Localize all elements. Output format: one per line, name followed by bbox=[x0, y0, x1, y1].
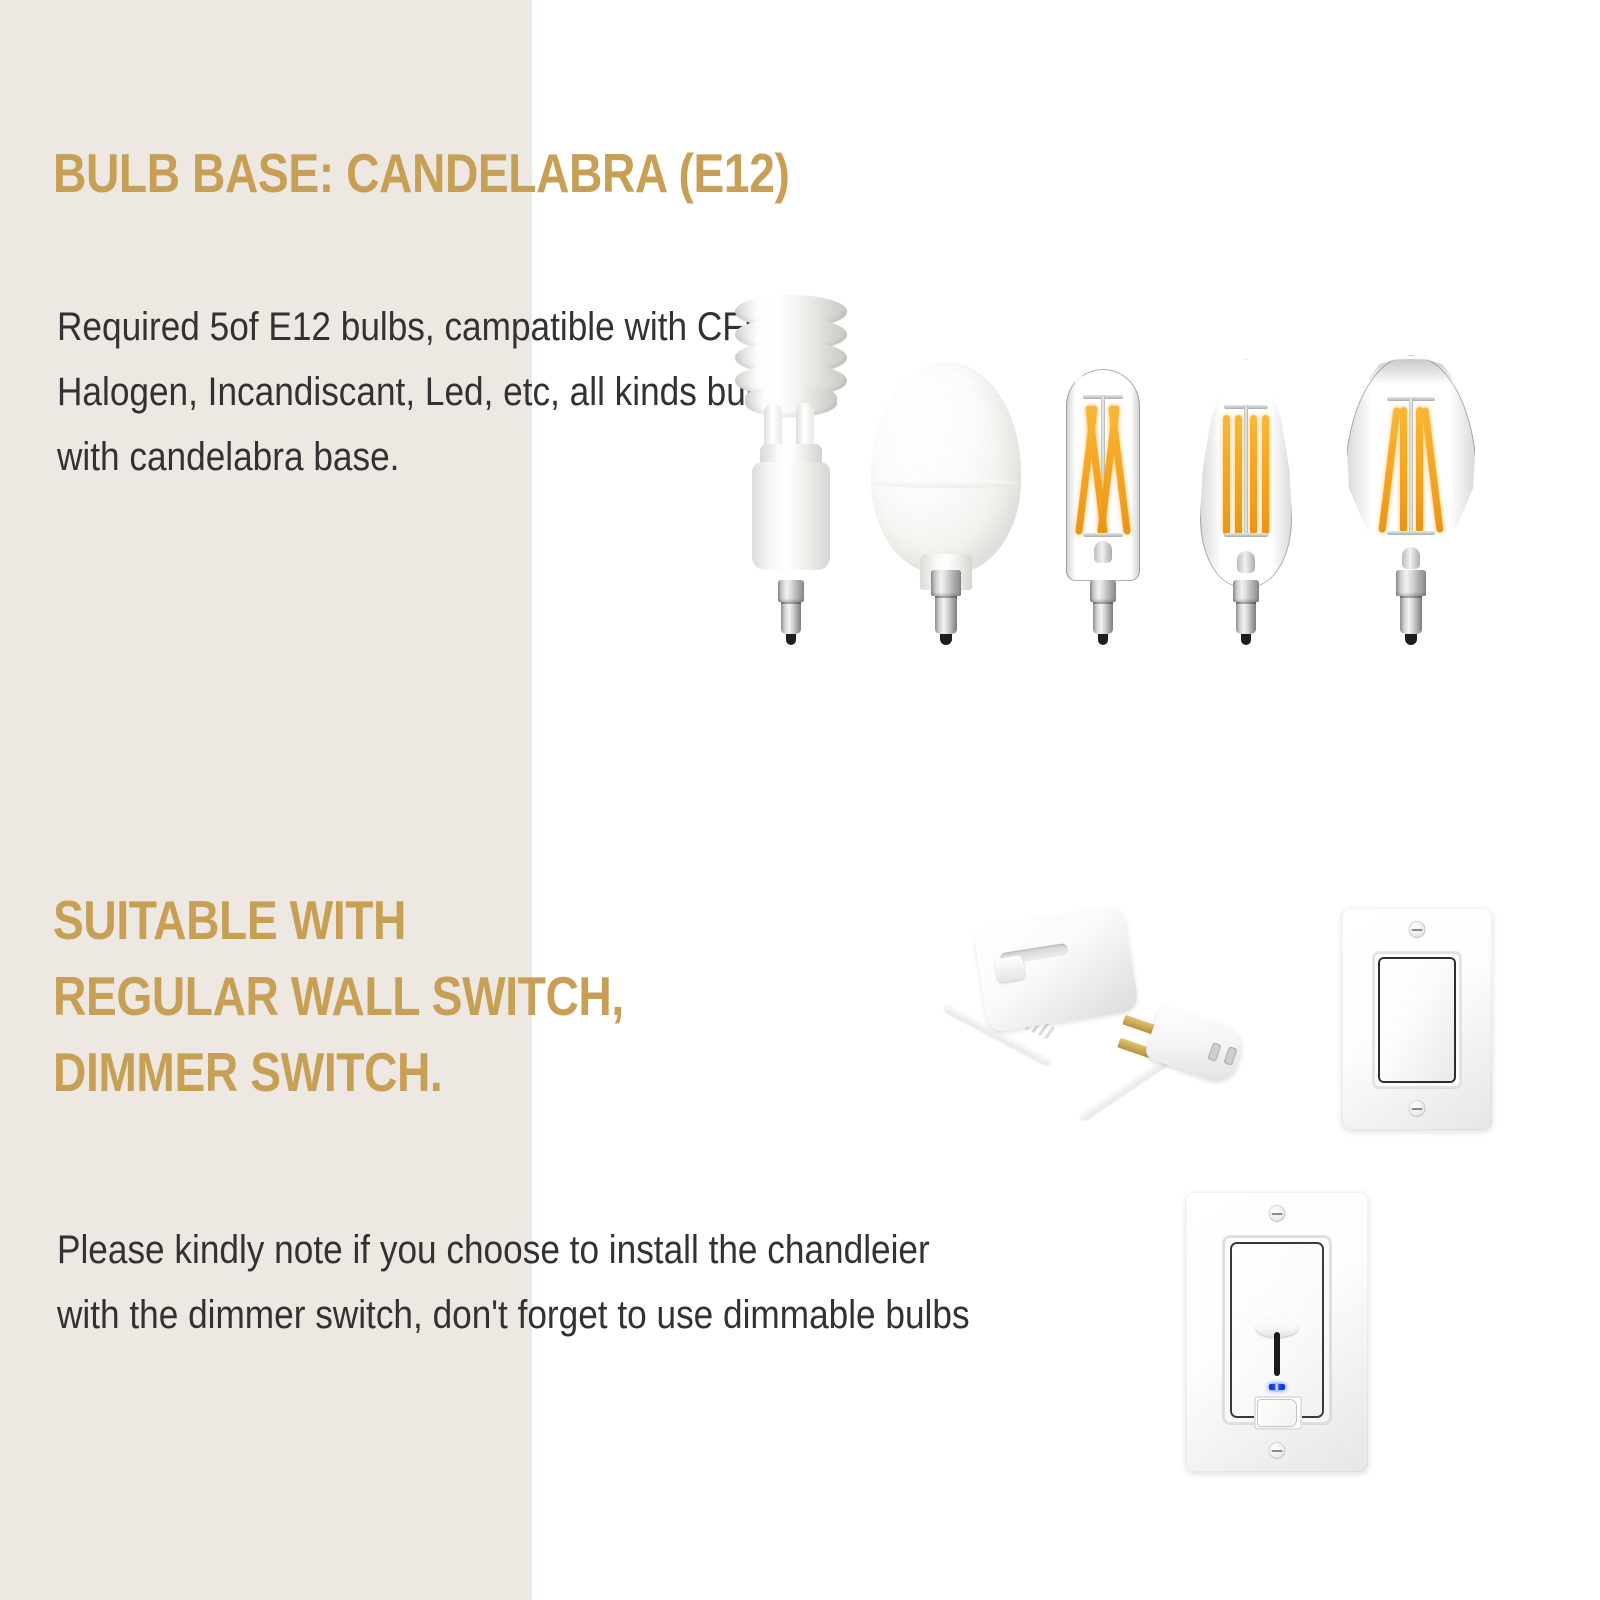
e12-screw-base bbox=[931, 570, 961, 645]
slide-dimmer-switch bbox=[1186, 1192, 1368, 1472]
filament-stem-mount bbox=[1402, 547, 1420, 569]
faceplate-screw-top bbox=[1409, 921, 1426, 938]
dimmer-body bbox=[1232, 1244, 1322, 1416]
filament-stem-mount bbox=[1237, 551, 1255, 573]
heading-line-3: DIMMER SWITCH. bbox=[53, 1045, 624, 1100]
filament-stem-mount bbox=[1094, 541, 1112, 563]
cfl-spiral-coil bbox=[735, 295, 847, 417]
globe-diffuser bbox=[871, 362, 1021, 574]
cord-dimmer-slider-knob bbox=[994, 955, 1025, 983]
cfl-tube-right bbox=[796, 403, 814, 449]
filament-assembly bbox=[1220, 407, 1272, 535]
tubular-filament-bulb bbox=[1048, 325, 1158, 645]
background-panel-left bbox=[0, 0, 532, 1600]
infographic-page: BULB BASE: CANDELABRA (E12) Required 5of… bbox=[0, 0, 1600, 1600]
inline-cord-dimmer bbox=[960, 895, 1290, 1185]
e12-screw-base bbox=[1396, 570, 1426, 645]
switch-rocker-paddle bbox=[1380, 959, 1454, 1081]
cfl-tube-left bbox=[764, 403, 782, 449]
cfl-spiral-bulb bbox=[726, 315, 856, 645]
section-paragraph-bulb-base: Required 5of E12 bulbs, campatible with … bbox=[57, 295, 779, 490]
pear-filament-bulb bbox=[1336, 315, 1486, 645]
section-paragraph-dimmer-note: Please kindly note if you choose to inst… bbox=[57, 1218, 990, 1348]
section-heading-suitable-switches: SUITABLE WITH REGULAR WALL SWITCH, DIMME… bbox=[53, 893, 624, 1121]
cfl-ballast-body bbox=[752, 462, 830, 570]
e12-screw-base bbox=[778, 580, 804, 645]
e12-screw-base bbox=[1233, 580, 1259, 645]
dimmer-slider-track bbox=[1274, 1332, 1280, 1376]
bulb-type-row bbox=[726, 300, 1526, 645]
faceplate-screw-top bbox=[1269, 1205, 1286, 1222]
candle-filament-bulb bbox=[1188, 315, 1304, 645]
globe-seam bbox=[872, 479, 1020, 488]
section-heading-bulb-base: BULB BASE: CANDELABRA (E12) bbox=[53, 146, 789, 201]
heading-line-1: SUITABLE WITH bbox=[53, 893, 624, 948]
e12-screw-base bbox=[1090, 580, 1116, 645]
regular-wall-switch bbox=[1342, 908, 1492, 1130]
dimmer-power-rocker bbox=[1258, 1400, 1296, 1426]
pear-top-tint bbox=[1356, 359, 1466, 385]
faceplate-screw-bottom bbox=[1409, 1100, 1426, 1117]
background-panel-right bbox=[532, 0, 1600, 1600]
plug-body bbox=[1143, 1004, 1248, 1087]
dimmer-led-indicator bbox=[1269, 1384, 1285, 1390]
faceplate-screw-bottom bbox=[1269, 1442, 1286, 1459]
filament-assembly bbox=[1383, 399, 1439, 533]
filament-assembly bbox=[1078, 397, 1128, 535]
globe-led-bulb bbox=[866, 300, 1026, 645]
heading-line-2: REGULAR WALL SWITCH, bbox=[53, 969, 624, 1024]
